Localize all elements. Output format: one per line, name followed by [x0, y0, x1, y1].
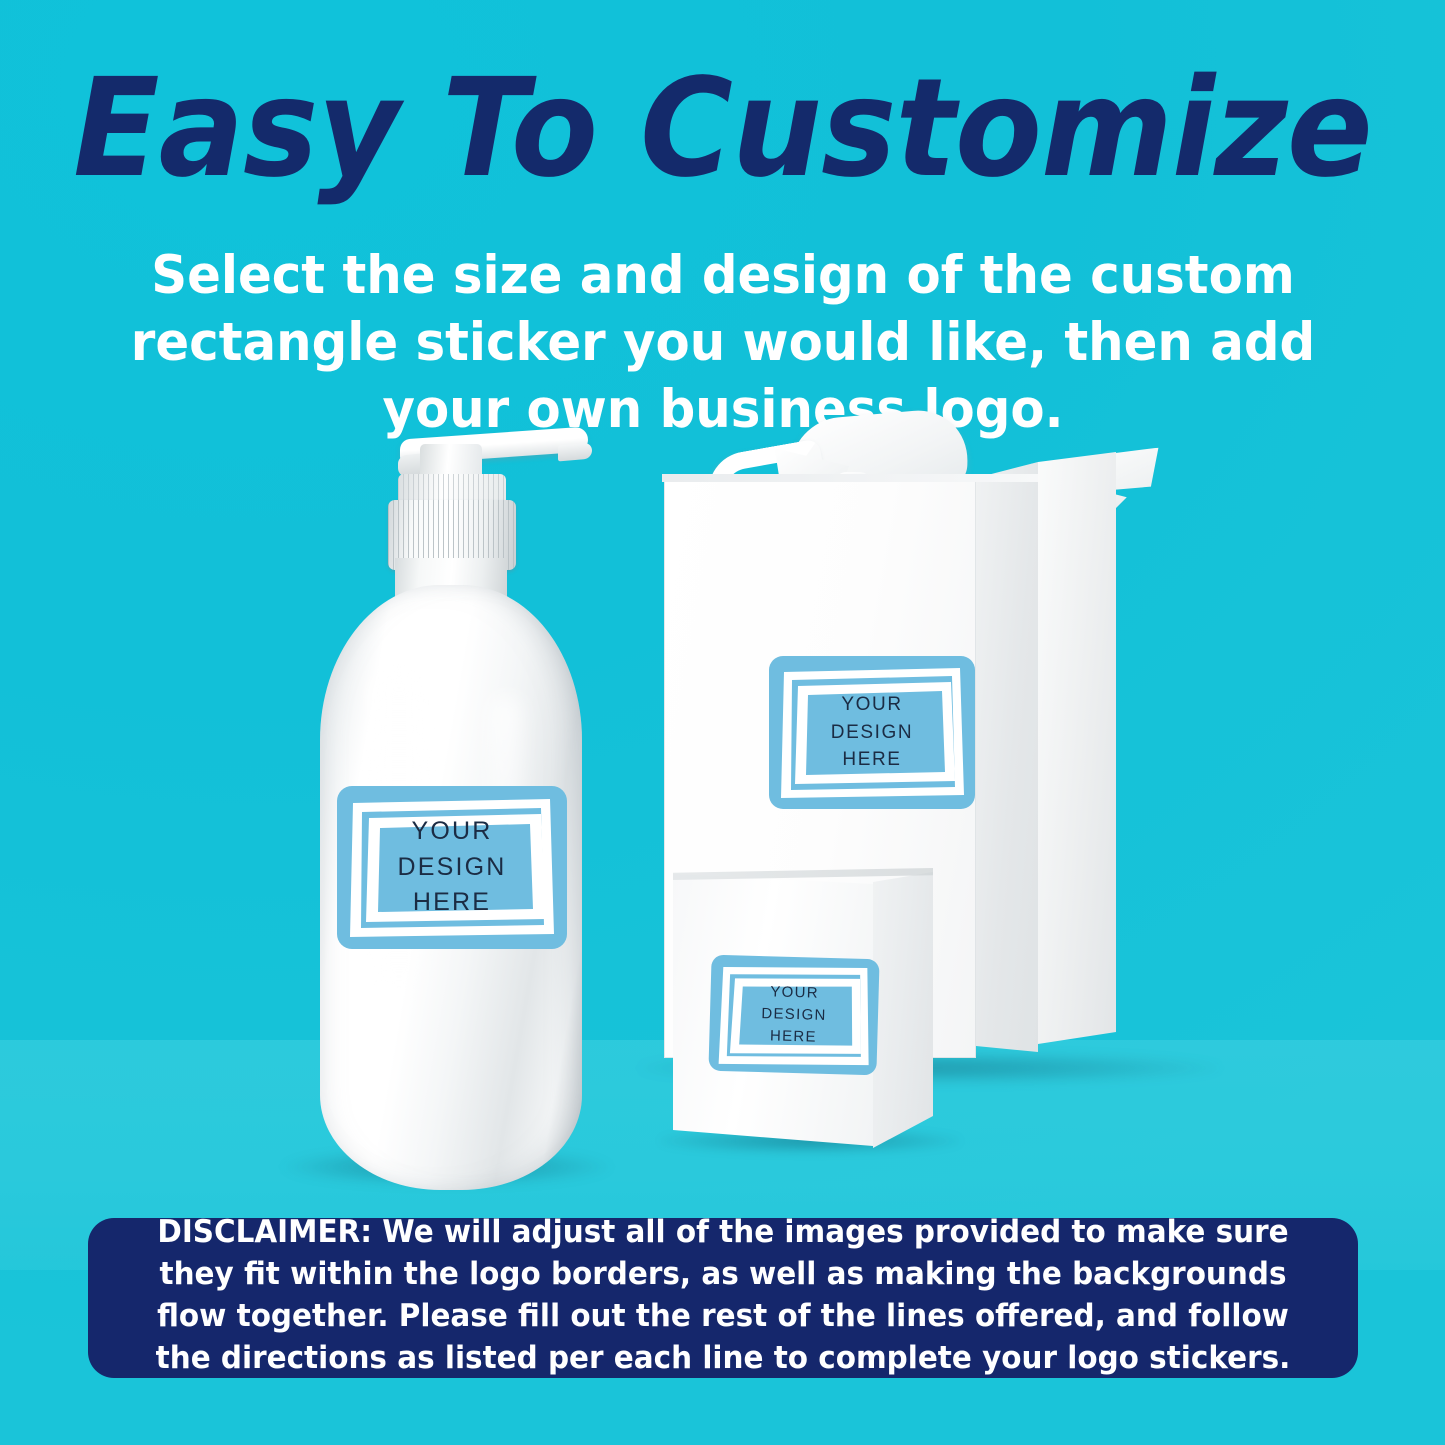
sticker-line-2: DESIGN: [831, 719, 913, 747]
small-box-side-panel: [873, 872, 933, 1148]
gift-box-side-panel: [976, 462, 1038, 1052]
sticker-line-1: YOUR: [770, 982, 819, 1005]
sticker-bottle[interactable]: YOUR DESIGN HERE: [336, 785, 568, 950]
sticker-text: YOUR DESIGN HERE: [336, 785, 568, 950]
promo-poster: Easy To Customize Select the size and de…: [0, 0, 1445, 1445]
sticker-text: YOUR DESIGN HERE: [768, 655, 976, 810]
small-box: YOUR DESIGN HERE: [665, 860, 965, 1160]
small-box-top-edge: [673, 868, 933, 880]
sticker-line-3: HERE: [842, 746, 901, 774]
sticker-text: YOUR DESIGN HERE: [707, 954, 880, 1077]
gift-box-back-panel: [1038, 452, 1116, 1044]
sticker-line-2: DESIGN: [761, 1003, 827, 1027]
gift-box-lid-edge: [662, 474, 1038, 482]
pump-bottle: YOUR DESIGN HERE: [300, 430, 600, 1190]
disclaimer-text: DISCLAIMER: We will adjust all of the im…: [152, 1212, 1294, 1379]
sticker-line-3: HERE: [770, 1025, 817, 1048]
disclaimer-banner: DISCLAIMER: We will adjust all of the im…: [88, 1218, 1358, 1378]
sticker-line-3: HERE: [413, 885, 491, 921]
sticker-line-1: YOUR: [411, 814, 492, 850]
sticker-gift-box[interactable]: YOUR DESIGN HERE: [768, 655, 976, 810]
sticker-line-2: DESIGN: [397, 850, 506, 886]
disclaimer-heading: DISCLAIMER:: [157, 1214, 372, 1250]
sticker-line-1: YOUR: [841, 691, 902, 719]
sticker-small-box[interactable]: YOUR DESIGN HERE: [707, 954, 880, 1077]
pump-nozzle-tip: [558, 443, 592, 462]
